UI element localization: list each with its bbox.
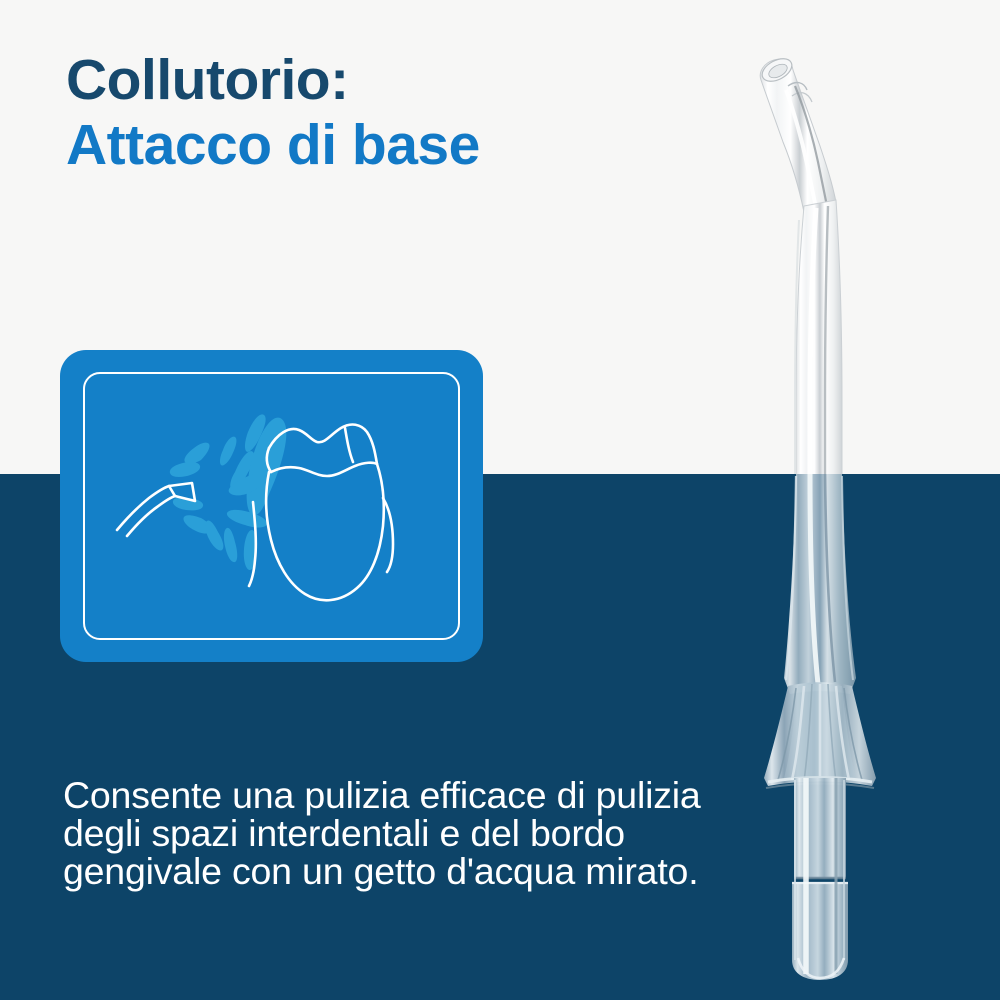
- feature-icon-card: [60, 350, 483, 662]
- nozzle-stem: [792, 778, 848, 980]
- product-image-classic-jet-tip: [700, 30, 940, 990]
- feature-description: Consente una pulizia efficace di pulizia…: [63, 776, 763, 890]
- water-splash-icon: [170, 414, 286, 570]
- nozzle-tip: [758, 54, 836, 212]
- water-flosser-tooth-icon: [83, 372, 460, 640]
- page-title: Collutorio: Attacco di base: [66, 48, 706, 178]
- nozzle-shaft-upper: [795, 200, 842, 482]
- page-title-line-1: Collutorio:: [66, 48, 706, 113]
- page-title-line-2: Attacco di base: [66, 113, 706, 178]
- product-feature-infographic: Collutorio: Attacco di base: [0, 0, 1000, 1000]
- nozzle-collar-skirt: [764, 682, 876, 788]
- nozzle-shaft-lower: [784, 474, 856, 694]
